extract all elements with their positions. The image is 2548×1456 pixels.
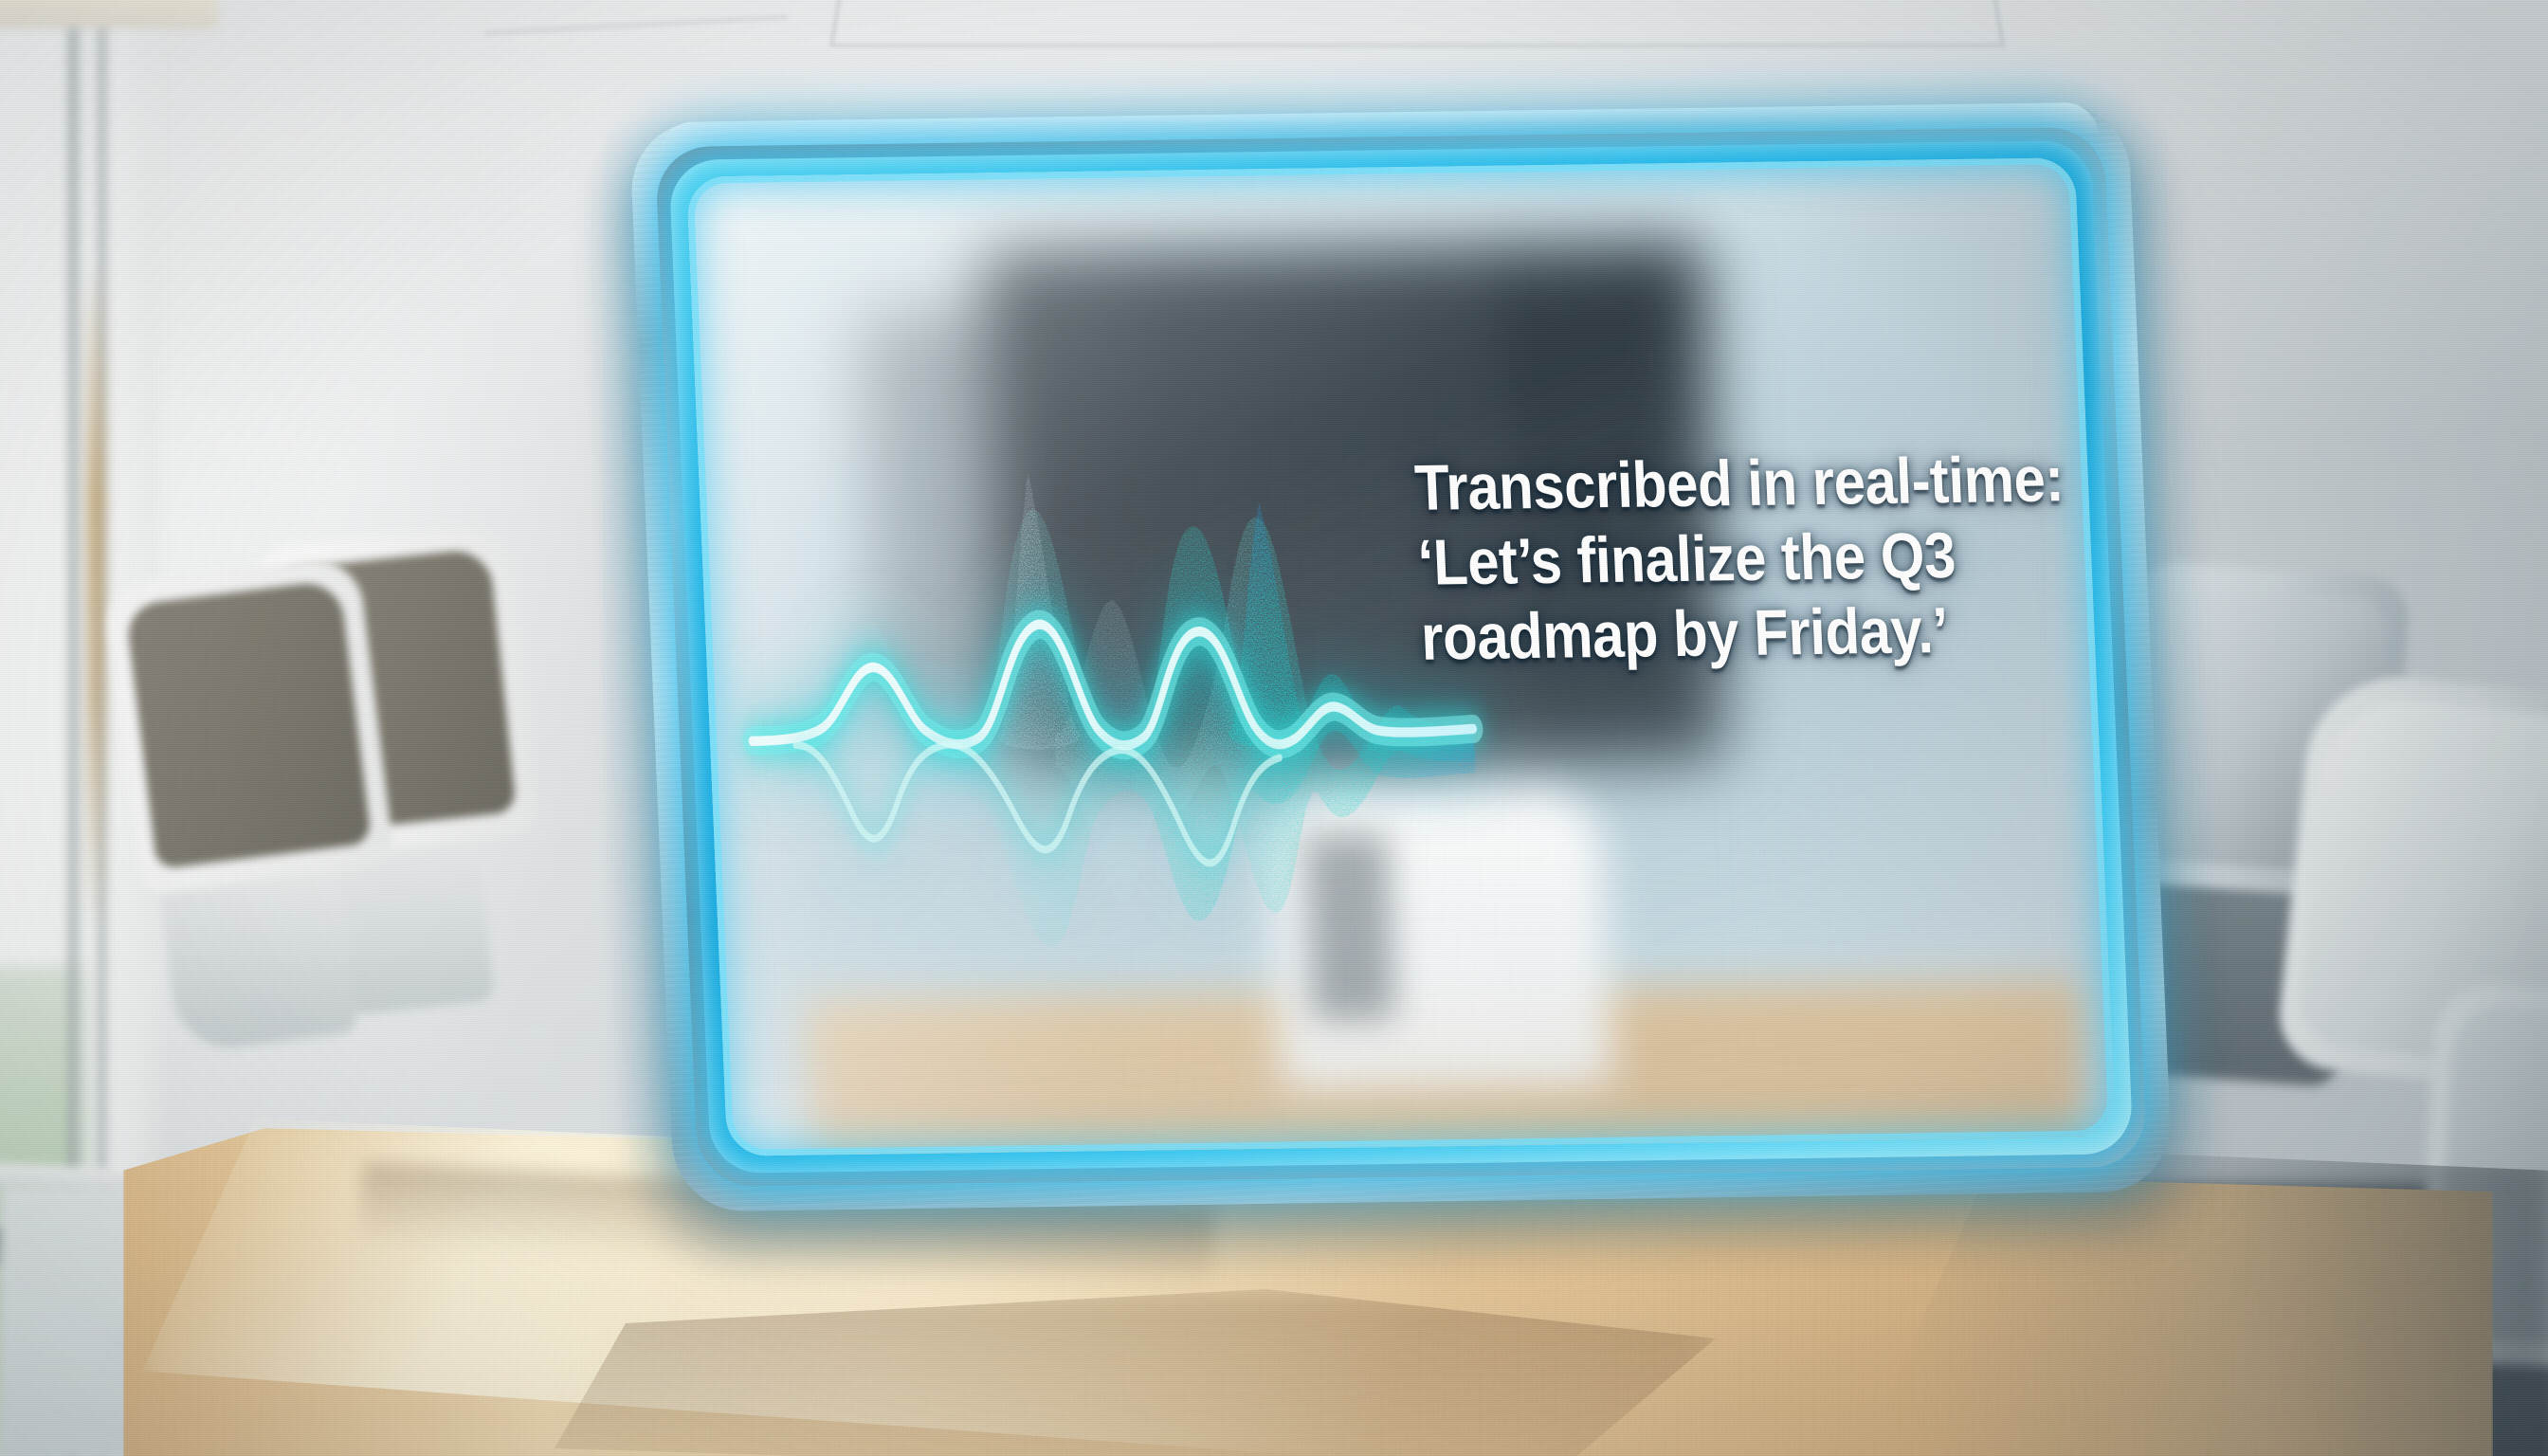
chair-left-near [103,555,395,896]
transcription-caption: Transcribed in real-time: ‘Let’s finaliz… [1413,443,1997,675]
audio-waveform-icon [737,401,1483,979]
display-screen[interactable]: Transcribed in real-time: ‘Let’s finaliz… [686,157,2116,1156]
window-header [0,0,218,28]
window-warm-reflection [87,265,104,929]
caption-line-3: roadmap by Friday.’ [1419,592,1996,675]
caption-line-1: Transcribed in real-time: [1413,443,1991,525]
chair-cushion [125,579,372,869]
caption-line-2: ‘Let’s finalize the Q3 [1416,518,1993,600]
conference-room-scene: Transcribed in real-time: ‘Let’s finaliz… [0,0,2548,1456]
ceiling-rail [829,0,2004,46]
smart-display-panel[interactable]: Transcribed in real-time: ‘Let’s finaliz… [629,101,2174,1211]
